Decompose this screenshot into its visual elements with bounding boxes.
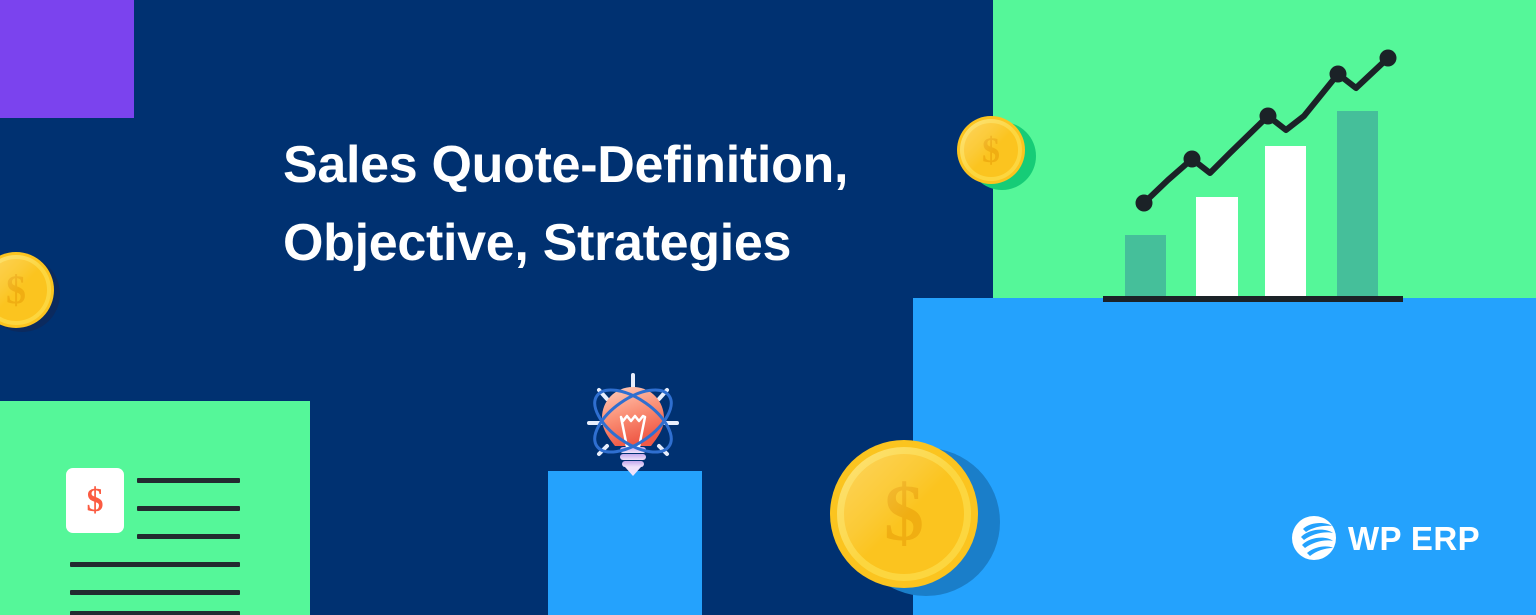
chart-bar bbox=[1196, 197, 1238, 298]
page-title: Sales Quote-Definition, Objective, Strat… bbox=[283, 126, 883, 282]
gold-coin-icon: $ bbox=[957, 116, 1025, 184]
chart-data-point bbox=[1260, 108, 1277, 125]
invoice-text-line bbox=[70, 611, 240, 615]
lightbulb-idea-icon bbox=[583, 371, 683, 477]
chart-axis-line bbox=[1103, 296, 1403, 302]
chart-bar bbox=[1125, 235, 1166, 298]
coin-sheen bbox=[960, 119, 1022, 181]
chart-bar bbox=[1265, 146, 1306, 298]
chart-data-point bbox=[1330, 66, 1347, 83]
gold-coin-icon: $ bbox=[0, 252, 54, 328]
invoice-text-line bbox=[70, 590, 240, 595]
gold-coin-icon: $ bbox=[830, 440, 978, 588]
blue-panel bbox=[913, 298, 1536, 615]
chart-bar bbox=[1337, 111, 1378, 298]
logo-text: WP ERP bbox=[1348, 522, 1480, 555]
chart-data-point bbox=[1136, 195, 1153, 212]
invoice-dollar-badge: $ bbox=[66, 468, 124, 533]
chart-data-point bbox=[1184, 151, 1201, 168]
invoice-text-line bbox=[137, 534, 240, 539]
wp-erp-logo[interactable]: WP ERP bbox=[1291, 515, 1480, 561]
purple-accent-rect bbox=[0, 0, 134, 118]
invoice-text-line bbox=[70, 562, 240, 567]
dollar-sign-icon: $ bbox=[87, 484, 104, 518]
chart-data-point bbox=[1380, 50, 1397, 67]
coin-sheen bbox=[837, 447, 971, 581]
center-blue-rect bbox=[548, 471, 702, 615]
growth-chart-illustration bbox=[1100, 45, 1410, 305]
invoice-text-line bbox=[137, 506, 240, 511]
invoice-text-line bbox=[137, 478, 240, 483]
blog-hero-banner: $ Sales Quote-Definition, Objective, Str… bbox=[0, 0, 1536, 615]
wp-erp-globe-icon bbox=[1291, 515, 1337, 561]
